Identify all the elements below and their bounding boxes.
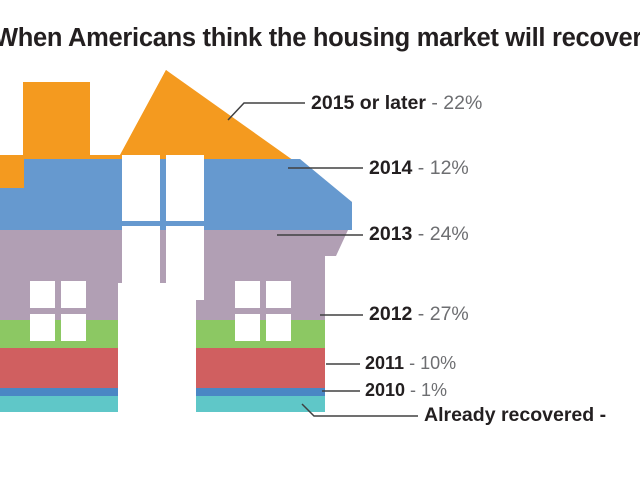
callout-2011-pct: 10% bbox=[420, 353, 456, 373]
callout-already-recovered-sep: - bbox=[594, 404, 606, 426]
front-door bbox=[118, 283, 196, 412]
callout-2015: 2015 or later - 22% bbox=[311, 92, 482, 115]
callout-2010: 2010 - 1% bbox=[365, 380, 447, 401]
callout-2013-pct: 24% bbox=[430, 223, 469, 245]
callout-already-recovered-label: Already recovered bbox=[424, 404, 594, 426]
footer: ulia® RealtyTrac® Data from a study cond… bbox=[0, 424, 640, 480]
callout-2014: 2014 - 12% bbox=[369, 157, 469, 180]
window-left bbox=[30, 281, 86, 341]
attic-window bbox=[122, 155, 204, 300]
callout-2012: 2012 - 27% bbox=[369, 303, 469, 326]
callout-2012-sep: - bbox=[412, 303, 429, 325]
callout-2014-pct: 12% bbox=[430, 157, 469, 179]
callout-2010-sep: - bbox=[405, 380, 421, 400]
callout-2011: 2011 - 10% bbox=[365, 353, 456, 374]
callout-2015-sep: - bbox=[426, 92, 443, 114]
callout-2011-year: 2011 bbox=[365, 353, 404, 373]
callout-2010-pct: 1% bbox=[421, 380, 447, 400]
callout-2013-sep: - bbox=[412, 223, 429, 245]
callout-2015-pct: 22% bbox=[443, 92, 482, 114]
infographic-canvas: When Americans think the housing market … bbox=[0, 0, 640, 480]
callout-2012-year: 2012 bbox=[369, 303, 412, 325]
callout-2010-year: 2010 bbox=[365, 380, 405, 400]
callout-2014-sep: - bbox=[412, 157, 429, 179]
callout-2012-pct: 27% bbox=[430, 303, 469, 325]
callout-2013-year: 2013 bbox=[369, 223, 412, 245]
page-title: When Americans think the housing market … bbox=[0, 24, 640, 53]
callout-2011-sep: - bbox=[404, 353, 420, 373]
window-right bbox=[235, 281, 291, 341]
callout-2013: 2013 - 24% bbox=[369, 223, 469, 246]
callout-2015-year: 2015 or later bbox=[311, 92, 426, 114]
eave-shadow bbox=[325, 230, 348, 256]
callout-2014-year: 2014 bbox=[369, 157, 412, 179]
